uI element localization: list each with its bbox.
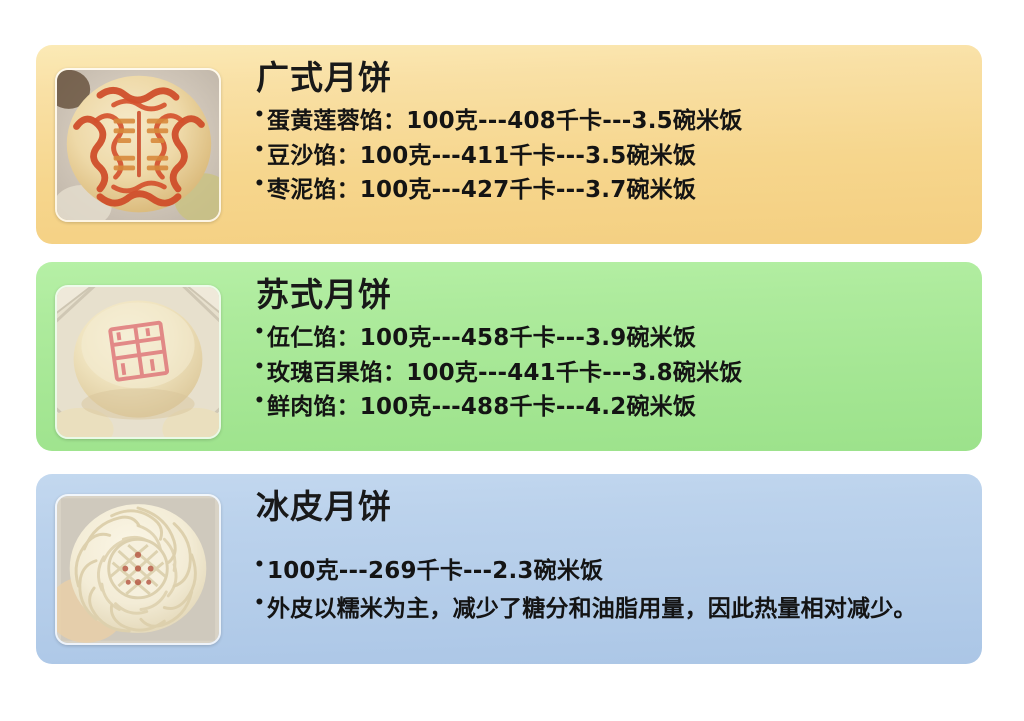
snowskin-mooncake-photo bbox=[55, 494, 221, 645]
list-item: 蛋黄莲蓉馅：100克---408千卡---3.5碗米饭 bbox=[254, 104, 970, 139]
card-content: 苏式月饼 伍仁馅：100克---458千卡---3.9碗米饭 玫瑰百果馅：100… bbox=[254, 274, 970, 425]
list-item: 玫瑰百果馅：100克---441千卡---3.8碗米饭 bbox=[254, 356, 970, 391]
calorie-list-guangshi: 蛋黄莲蓉馅：100克---408千卡---3.5碗米饭 豆沙馅：100克---4… bbox=[254, 104, 970, 208]
calorie-list-sushi: 伍仁馅：100克---458千卡---3.9碗米饭 玫瑰百果馅：100克---4… bbox=[254, 321, 970, 425]
card-title-bingpi: 冰皮月饼 bbox=[254, 486, 970, 527]
mooncake-card-sushi: 苏式月饼 伍仁馅：100克---458千卡---3.9碗米饭 玫瑰百果馅：100… bbox=[36, 262, 982, 451]
list-item: 100克---269千卡---2.3碗米饭 bbox=[254, 553, 970, 590]
mooncake-card-guangshi: 广式月饼 蛋黄莲蓉馅：100克---408千卡---3.5碗米饭 豆沙馅：100… bbox=[36, 45, 982, 244]
mooncake-calorie-infographic: 广式月饼 蛋黄莲蓉馅：100克---408千卡---3.5碗米饭 豆沙馅：100… bbox=[0, 0, 1024, 721]
card-content: 冰皮月饼 100克---269千卡---2.3碗米饭 外皮以糯米为主，减少了糖分… bbox=[254, 486, 970, 628]
card-content: 广式月饼 蛋黄莲蓉馅：100克---408千卡---3.5碗米饭 豆沙馅：100… bbox=[254, 57, 970, 208]
cantonese-mooncake-photo bbox=[55, 68, 221, 222]
calorie-list-bingpi: 100克---269千卡---2.3碗米饭 外皮以糯米为主，减少了糖分和油脂用量… bbox=[254, 553, 970, 628]
list-item: 鲜肉馅：100克---488千卡---4.2碗米饭 bbox=[254, 390, 970, 425]
list-item: 豆沙馅：100克---411千卡---3.5碗米饭 bbox=[254, 139, 970, 174]
mooncake-card-bingpi: 冰皮月饼 100克---269千卡---2.3碗米饭 外皮以糯米为主，减少了糖分… bbox=[36, 474, 982, 664]
card-title-guangshi: 广式月饼 bbox=[254, 57, 970, 98]
list-item: 伍仁馅：100克---458千卡---3.9碗米饭 bbox=[254, 321, 970, 356]
list-item: 枣泥馅：100克---427千卡---3.7碗米饭 bbox=[254, 173, 970, 208]
list-item: 外皮以糯米为主，减少了糖分和油脂用量，因此热量相对减少。 bbox=[254, 591, 970, 628]
suzhou-mooncake-photo bbox=[55, 285, 221, 439]
card-title-sushi: 苏式月饼 bbox=[254, 274, 970, 315]
